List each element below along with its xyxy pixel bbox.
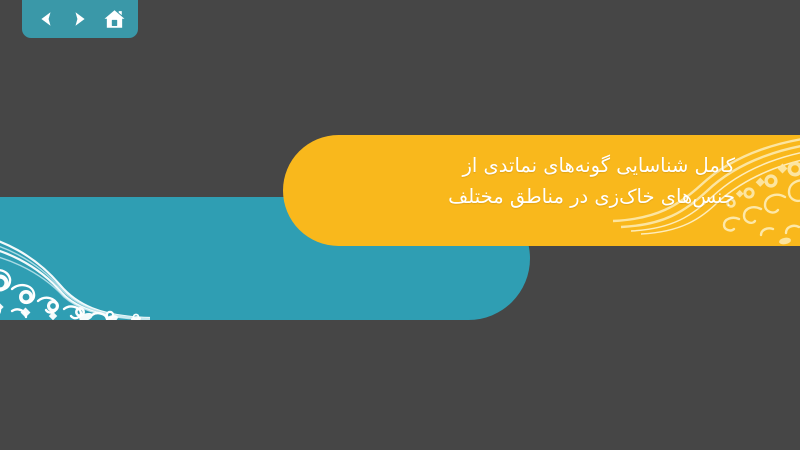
slide-title-line-2: جنس‌های خاک‌زی در مناطق مختلف bbox=[405, 182, 735, 213]
orange-title-banner: کامل شناسایی گونه‌های نماتدی از جنس‌های … bbox=[283, 135, 800, 246]
back-button[interactable] bbox=[32, 5, 60, 33]
slide-title: کامل شناسایی گونه‌های نماتدی از جنس‌های … bbox=[405, 151, 735, 213]
home-button[interactable] bbox=[100, 5, 128, 33]
forward-button[interactable] bbox=[66, 5, 94, 33]
teal-arabesque-ornament-icon bbox=[0, 205, 150, 320]
navigation-bar bbox=[22, 0, 138, 38]
home-icon bbox=[103, 8, 126, 31]
forward-icon bbox=[70, 9, 90, 29]
slide-title-line-1: کامل شناسایی گونه‌های نماتدی از bbox=[405, 151, 735, 182]
back-icon bbox=[36, 9, 56, 29]
presentation-slide: کامل شناسایی گونه‌های نماتدی از جنس‌های … bbox=[0, 0, 800, 450]
